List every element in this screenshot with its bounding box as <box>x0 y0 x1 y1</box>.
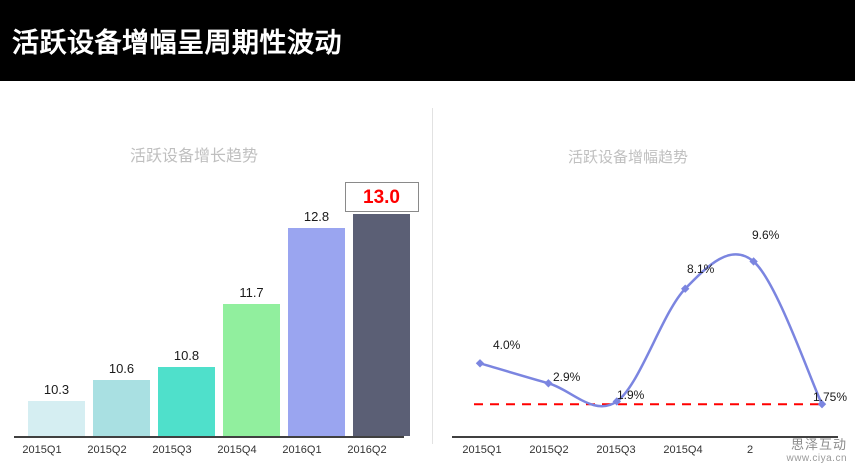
line-axis-line <box>452 436 838 438</box>
line-category-label: 2015Q3 <box>583 444 649 456</box>
line-category-label: 2 <box>717 444 783 456</box>
bar-rect[interactable] <box>158 367 215 436</box>
page-title: 活跃设备增幅呈周期性波动 <box>12 21 342 60</box>
bar-category-label: 2016Q1 <box>267 444 337 456</box>
watermark-brand: 思泽互动 <box>786 438 847 453</box>
bar-value-label: 10.3 <box>28 382 85 397</box>
line-category-label: 2015Q1 <box>449 444 515 456</box>
line-point-label: 1.9% <box>617 388 644 402</box>
line-marker[interactable] <box>476 359 484 367</box>
bar-rect[interactable] <box>223 304 280 436</box>
bar-axis-line <box>14 436 404 438</box>
watermark: 思泽互动 www.ciya.cn <box>786 438 847 464</box>
bar-rect[interactable] <box>353 214 410 436</box>
line-category-label: 2015Q2 <box>516 444 582 456</box>
bar-chart-plot <box>14 186 418 436</box>
line-chart-panel: 活跃设备增幅趋势 4.0% 2.9% 1.9% 8.1% 9.6% 1.75% … <box>432 100 855 460</box>
bar-rect[interactable] <box>93 380 150 436</box>
line-point-label: 8.1% <box>687 262 714 276</box>
bar-value-label: 11.7 <box>223 285 280 300</box>
bar-category-label: 2015Q2 <box>72 444 142 456</box>
line-category-label: 2015Q4 <box>650 444 716 456</box>
bar-value-label-highlight: 13.0 <box>353 187 410 209</box>
bar-value-label: 10.8 <box>158 348 215 363</box>
bar-category-label: 2015Q1 <box>7 444 77 456</box>
bar-rect[interactable] <box>28 401 85 436</box>
line-point-label: 4.0% <box>493 338 520 352</box>
bar-chart-title: 活跃设备增长趋势 <box>130 142 258 166</box>
line-series-path <box>480 254 822 406</box>
bar-value-label: 10.6 <box>93 361 150 376</box>
bar-category-label: 2015Q4 <box>202 444 272 456</box>
line-point-label: 9.6% <box>752 228 779 242</box>
bar-category-label: 2016Q2 <box>332 444 402 456</box>
bar-chart-panel: 活跃设备增长趋势 10.3 10.6 10.8 <box>0 100 432 460</box>
slide-canvas: 活跃设备增幅呈周期性波动 活跃设备增长趋势 <box>0 0 855 470</box>
bar-value-label: 12.8 <box>288 209 345 224</box>
line-point-label: 2.9% <box>553 370 580 384</box>
line-marker-group <box>476 257 826 408</box>
bar-rect[interactable] <box>288 228 345 436</box>
header-band: 活跃设备增幅呈周期性波动 <box>0 0 855 81</box>
line-marker[interactable] <box>544 379 552 387</box>
bar-category-label: 2015Q3 <box>137 444 207 456</box>
watermark-url: www.ciya.cn <box>786 453 847 465</box>
line-chart-plot <box>432 100 855 460</box>
line-point-label: 1.75% <box>813 390 847 404</box>
